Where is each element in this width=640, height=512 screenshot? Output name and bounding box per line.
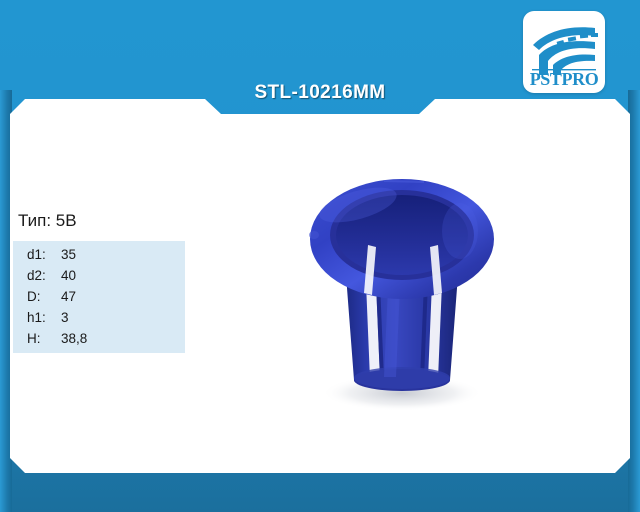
spec-key: h1: [27, 310, 61, 325]
spec-key: d1: [27, 247, 61, 262]
page-frame: PSTPRO STL-10216MM Тип: 5В d1: 35 d2: 40… [0, 0, 640, 512]
table-row: H: 38,8 [13, 331, 185, 352]
polyurethane-flanged-bushing-photo [292, 165, 507, 415]
svg-text:PSTPRO: PSTPRO [530, 69, 599, 89]
spec-key: d2: [27, 268, 61, 283]
page-title: STL-10216MM [254, 82, 385, 104]
spec-table: d1: 35 d2: 40 D: 47 h1: 3 H: 38,8 [13, 241, 185, 353]
spec-value: 40 [61, 268, 76, 283]
spec-value: 47 [61, 289, 76, 304]
spec-value: 3 [61, 310, 69, 325]
table-row: h1: 3 [13, 310, 185, 331]
spec-key: D: [27, 289, 61, 304]
title-banner: STL-10216MM [205, 72, 435, 114]
spec-key: H: [27, 331, 61, 346]
spec-value: 35 [61, 247, 76, 262]
type-label: Тип: 5В [18, 211, 77, 231]
pstpro-logo[interactable]: PSTPRO [523, 11, 605, 93]
spec-value: 38,8 [61, 331, 87, 346]
table-row: D: 47 [13, 289, 185, 310]
road-highway-icon: PSTPRO [523, 11, 605, 93]
table-row: d1: 35 [13, 247, 185, 268]
table-row: d2: 40 [13, 268, 185, 289]
product-image [292, 165, 507, 415]
